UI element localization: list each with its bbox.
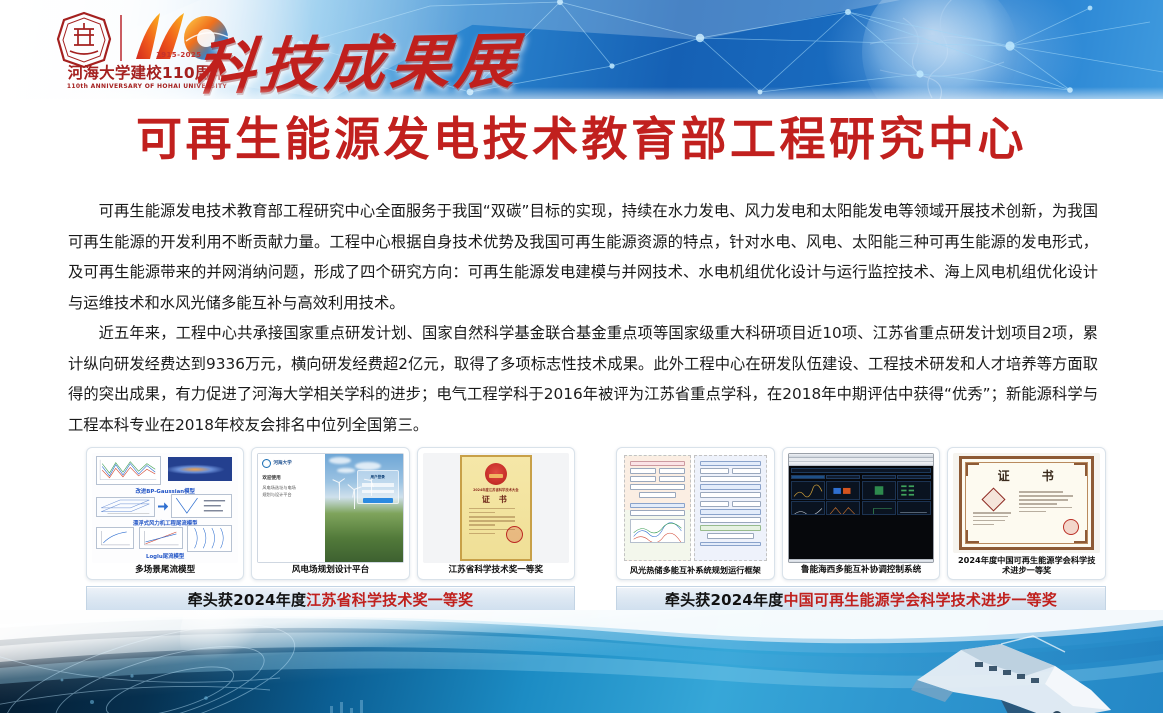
card-jiangsu-certificate[interactable]: 2024年度江苏省科学技术大会 证 书 江苏省科学技术奖一等奖	[417, 447, 575, 580]
thumb-sub-line-1: 风电场选址与电场	[262, 485, 320, 492]
logo-divider	[120, 15, 122, 61]
award-badge-icon	[982, 487, 1006, 511]
award-highlight: 中国可再生能源学会科学技术进步一等奖	[783, 591, 1057, 609]
thumb-jiangsu-certificate: 2024年度江苏省科学技术大会 证 书	[423, 453, 569, 563]
thumb-multienergy-framework	[622, 453, 769, 563]
card-caption: 风光热储多能互补系统规划运行框架	[622, 563, 769, 577]
thumb-sub-line-2: 规划与设计平台	[262, 492, 320, 499]
achievement-panels: 改进BP-Gaussian模型	[86, 447, 1106, 613]
corner-ornament-icon	[966, 463, 979, 476]
card-windfarm-platform[interactable]: 河海大学 欢迎使用 风电场选址与电场 规划与设计平台	[251, 447, 409, 580]
card-row-right: 风光热储多能互补系统规划运行框架	[616, 447, 1106, 580]
card-society-certificate[interactable]: 证 书	[947, 447, 1106, 580]
scada-header-bar	[791, 468, 932, 473]
wind-turbine-icon	[333, 476, 347, 500]
card-caption: 江苏省科学技术奖一等奖	[423, 563, 569, 577]
cert-header-text: 2024年度江苏省科学技术大会	[465, 487, 527, 492]
thumb-login-button[interactable]	[363, 498, 393, 503]
card-wake-model[interactable]: 改进BP-Gaussian模型	[86, 447, 244, 580]
thumb-label-3: Loglu尾流模型	[92, 552, 238, 560]
hohai-seal-icon	[56, 11, 112, 69]
thumb-welcome: 欢迎使用	[262, 475, 320, 481]
award-highlight: 江苏省科学技术奖一等奖	[306, 591, 473, 609]
page-footer-graphic	[0, 610, 1163, 713]
arrow-icon	[158, 501, 168, 512]
panel-jiangsu-award: 改进BP-Gaussian模型	[86, 447, 575, 613]
page-header: 1915-2025 河海大学建校110周年 110th ANNIVERSARY …	[0, 0, 1163, 99]
thumb-windfarm-platform: 河海大学 欢迎使用 风电场选址与电场 规划与设计平台	[257, 453, 403, 563]
thumb-username-field[interactable]	[362, 483, 394, 487]
cert-title-text: 证 书	[465, 494, 527, 505]
header-bottom-fade	[0, 87, 1163, 99]
card-caption: 2024年度中国可再生能源学会科学技术进步一等奖	[953, 553, 1100, 577]
cert-title-text: 证 书	[981, 467, 1084, 484]
card-row-left: 改进BP-Gaussian模型	[86, 447, 575, 580]
thumb-wake-model: 改进BP-Gaussian模型	[92, 453, 238, 563]
footer-white-overlay	[0, 610, 1163, 713]
intro-paragraph-1: 可再生能源发电技术教育部工程研究中心全面服务于我国“双碳”目标的实现，持续在水力…	[68, 196, 1098, 318]
thumb-society-certificate: 证 书	[953, 453, 1100, 553]
card-caption: 鲁能海西多能互补协调控制系统	[788, 563, 935, 577]
national-emblem-icon	[485, 463, 507, 485]
intro-body: 可再生能源发电技术教育部工程研究中心全面服务于我国“双碳”目标的实现，持续在水力…	[68, 196, 1098, 440]
thumb-scada-system	[788, 453, 935, 563]
thumb-hohai-logo: 河海大学	[262, 459, 320, 468]
thumb-login-title: 用户登录	[358, 475, 398, 480]
thumb-password-field[interactable]	[362, 490, 394, 494]
corner-ornament-icon	[1074, 463, 1087, 476]
card-caption: 风电场规划设计平台	[257, 563, 403, 577]
card-multienergy-framework[interactable]: 风光热储多能互补系统规划运行框架	[616, 447, 775, 580]
thumb-login-box[interactable]: 用户登录	[357, 470, 399, 504]
corner-ornament-icon	[966, 530, 979, 543]
page-title: 可再生能源发电技术教育部工程研究中心	[0, 112, 1163, 167]
award-banner-society: 牵头获2024年度中国可再生能源学会科学技术进步一等奖	[616, 586, 1106, 613]
award-banner-jiangsu: 牵头获2024年度江苏省科学技术奖一等奖	[86, 586, 575, 613]
anniversary-years-label: 1915-2025	[156, 51, 201, 59]
card-caption: 多场景尾流模型	[92, 563, 238, 577]
card-scada-system[interactable]: 鲁能海西多能互补协调控制系统	[782, 447, 941, 580]
red-seal-icon	[506, 526, 523, 543]
award-prefix: 牵头获2024年度	[665, 591, 784, 609]
intro-paragraph-2: 近五年来，工程中心共承接国家重点研发计划、国家自然科学基金联合基金重点项等国家级…	[68, 318, 1098, 440]
thumb-logo-cn: 河海大学	[273, 461, 291, 466]
panel-renewable-society-award: 风光热储多能互补系统规划运行框架	[616, 447, 1106, 613]
hohai-ring-icon	[262, 459, 271, 468]
poster-root: 1915-2025 河海大学建校110周年 110th ANNIVERSARY …	[0, 0, 1163, 713]
award-prefix: 牵头获2024年度	[188, 591, 307, 609]
